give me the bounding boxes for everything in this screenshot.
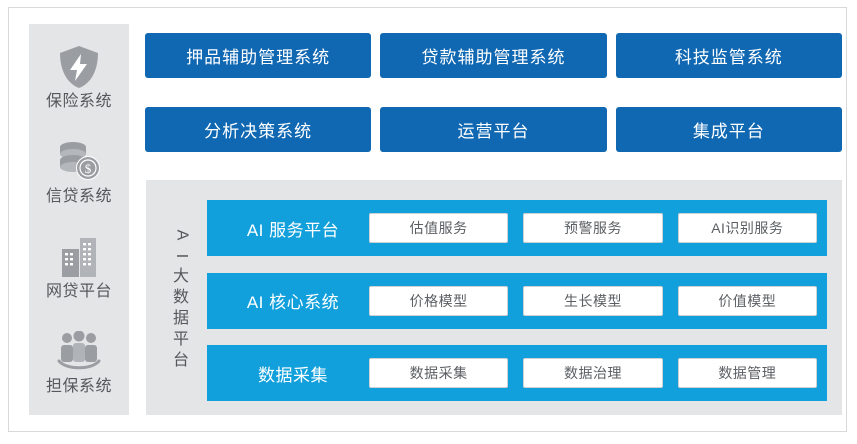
ai-platform-vertical-label: A I 大 数 据 平 台 <box>156 194 206 401</box>
sidebar: 保险系统 $ 信贷系统 <box>29 24 129 415</box>
sidebar-item-guarantee[interactable]: 担保系统 <box>29 329 129 395</box>
system-bar-analysis-decision[interactable]: 分析决策系统 <box>145 107 371 152</box>
ai-layer-data-collection[interactable]: 数据采集 数据采集 数据治理 数据管理 <box>207 345 827 401</box>
vertical-char-shu: 数 <box>173 290 189 306</box>
sidebar-item-label: 网贷平台 <box>46 284 112 300</box>
vertical-char-da: 大 <box>173 269 189 285</box>
system-bar-collateral-mgmt[interactable]: 押品辅助管理系统 <box>145 33 371 78</box>
ai-bigdata-platform-panel: A I 大 数 据 平 台 AI 服务平台 估值服务 预警服务 AI识别服务 A… <box>146 180 842 415</box>
system-bar-operations-platform[interactable]: 运营平台 <box>380 107 606 152</box>
system-bar-row-2: 分析决策系统 运营平台 集成平台 <box>145 107 842 152</box>
chip-valuation-service[interactable]: 估值服务 <box>369 213 508 243</box>
sidebar-item-online-loan[interactable]: 网贷平台 <box>29 234 129 300</box>
layer-title: AI 服务平台 <box>217 216 369 241</box>
ai-layer-rows: AI 服务平台 估值服务 预警服务 AI识别服务 AI 核心系统 价格模型 生长… <box>207 200 827 401</box>
chip-data-management[interactable]: 数据管理 <box>678 358 817 388</box>
system-bar-loan-mgmt[interactable]: 贷款辅助管理系统 <box>380 33 606 78</box>
people-group-icon <box>56 329 102 375</box>
sidebar-item-label: 保险系统 <box>46 94 112 110</box>
chip-price-model[interactable]: 价格模型 <box>369 286 508 316</box>
layer-chip-group: 价格模型 生长模型 价值模型 <box>369 286 817 316</box>
chip-data-governance[interactable]: 数据治理 <box>523 358 662 388</box>
ai-layer-service-platform[interactable]: AI 服务平台 估值服务 预警服务 AI识别服务 <box>207 200 827 256</box>
sidebar-item-label: 担保系统 <box>46 379 112 395</box>
layer-chip-group: 数据采集 数据治理 数据管理 <box>369 358 817 388</box>
ai-layer-core-system[interactable]: AI 核心系统 价格模型 生长模型 价值模型 <box>207 273 827 329</box>
sidebar-item-insurance[interactable]: 保险系统 <box>29 44 129 110</box>
coins-dollar-icon: $ <box>56 139 102 185</box>
chip-alert-service[interactable]: 预警服务 <box>523 213 662 243</box>
sidebar-item-label: 信贷系统 <box>46 189 112 205</box>
chip-value-model[interactable]: 价值模型 <box>678 286 817 316</box>
layer-title: AI 核心系统 <box>217 288 369 313</box>
buildings-icon <box>56 234 102 280</box>
layer-chip-group: 估值服务 预警服务 AI识别服务 <box>369 213 817 243</box>
layer-title: 数据采集 <box>217 361 369 386</box>
vertical-char-tai: 台 <box>173 353 189 369</box>
chip-ai-recognition-service[interactable]: AI识别服务 <box>678 213 817 243</box>
system-bar-row-1: 押品辅助管理系统 贷款辅助管理系统 科技监管系统 <box>145 33 842 78</box>
system-bar-integration-platform[interactable]: 集成平台 <box>616 107 842 152</box>
chip-growth-model[interactable]: 生长模型 <box>523 286 662 316</box>
diagram-frame: 保险系统 $ 信贷系统 <box>8 7 847 432</box>
svg-text:$: $ <box>85 161 92 176</box>
system-bar-tech-supervision[interactable]: 科技监管系统 <box>616 33 842 78</box>
chip-data-collection[interactable]: 数据采集 <box>369 358 508 388</box>
vertical-char-i: I <box>173 253 189 257</box>
vertical-char-ju: 据 <box>173 311 189 327</box>
vertical-char-a: A <box>173 229 189 240</box>
shield-bolt-icon <box>56 44 102 90</box>
vertical-char-ping: 平 <box>173 332 189 348</box>
sidebar-item-credit[interactable]: $ 信贷系统 <box>29 139 129 205</box>
